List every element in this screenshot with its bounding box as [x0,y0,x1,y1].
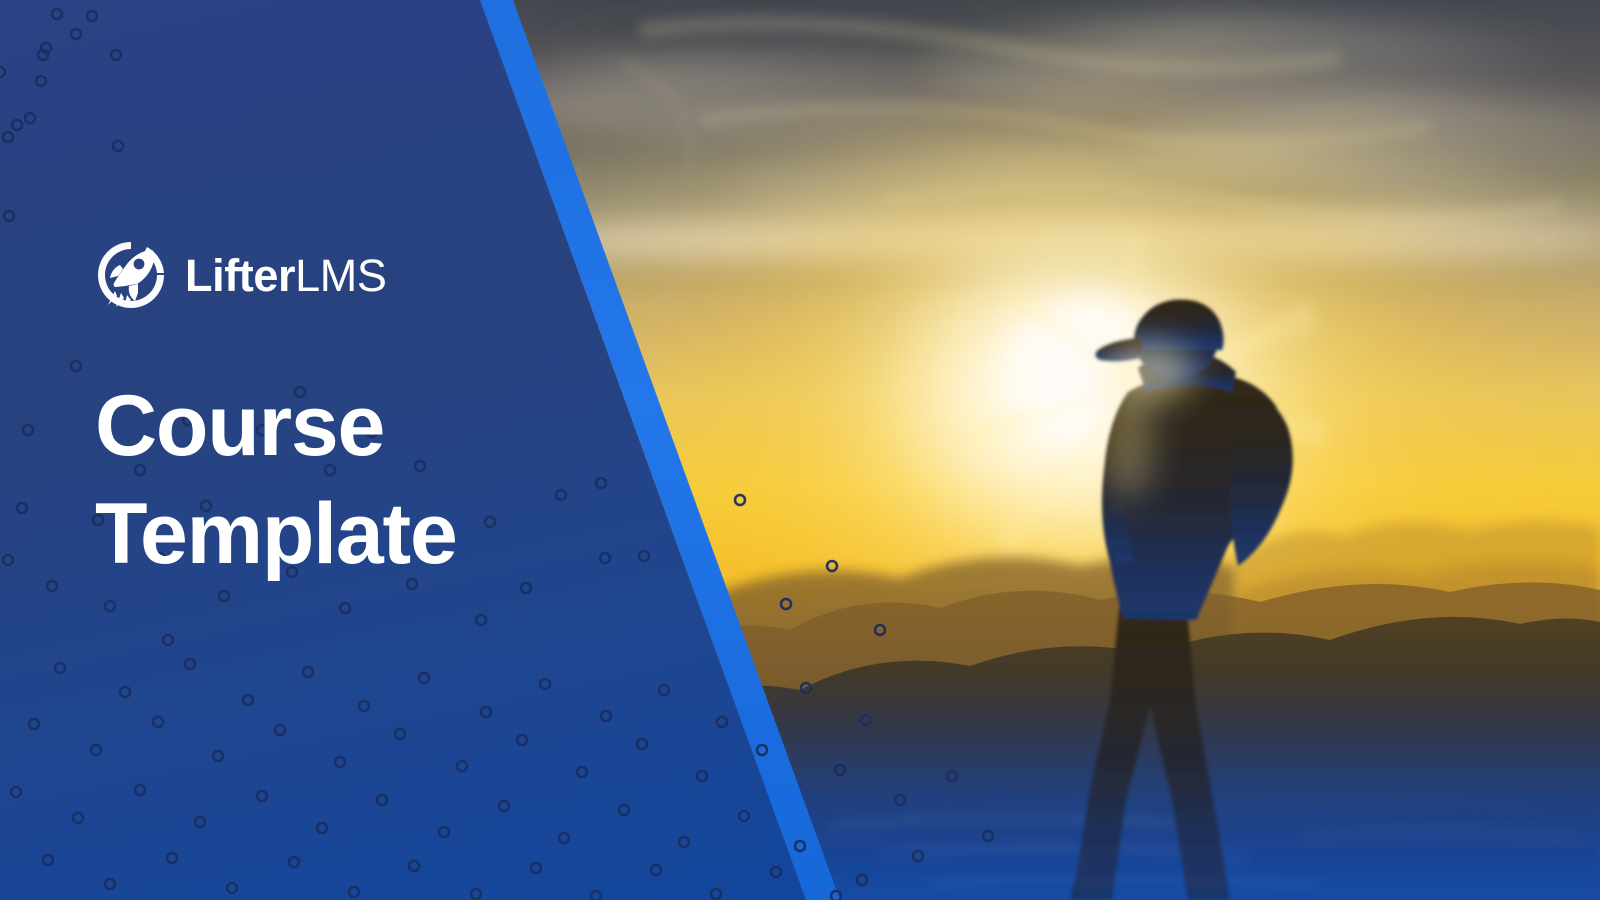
brand-name-light: LMS [295,250,386,301]
page-title-line-1: Course [95,372,565,480]
page-title: Course Template [95,372,565,589]
page-title-line-2: Template [95,480,565,588]
brand-wordmark: LifterLMS [185,253,386,298]
rocket-in-circle-icon [95,239,167,311]
panel-content: LifterLMS Course Template [95,232,565,589]
brand-logo[interactable]: LifterLMS [95,232,565,318]
course-template-hero-banner: LifterLMS Course Template [0,0,1600,900]
brand-name-bold: Lifter [185,250,295,301]
